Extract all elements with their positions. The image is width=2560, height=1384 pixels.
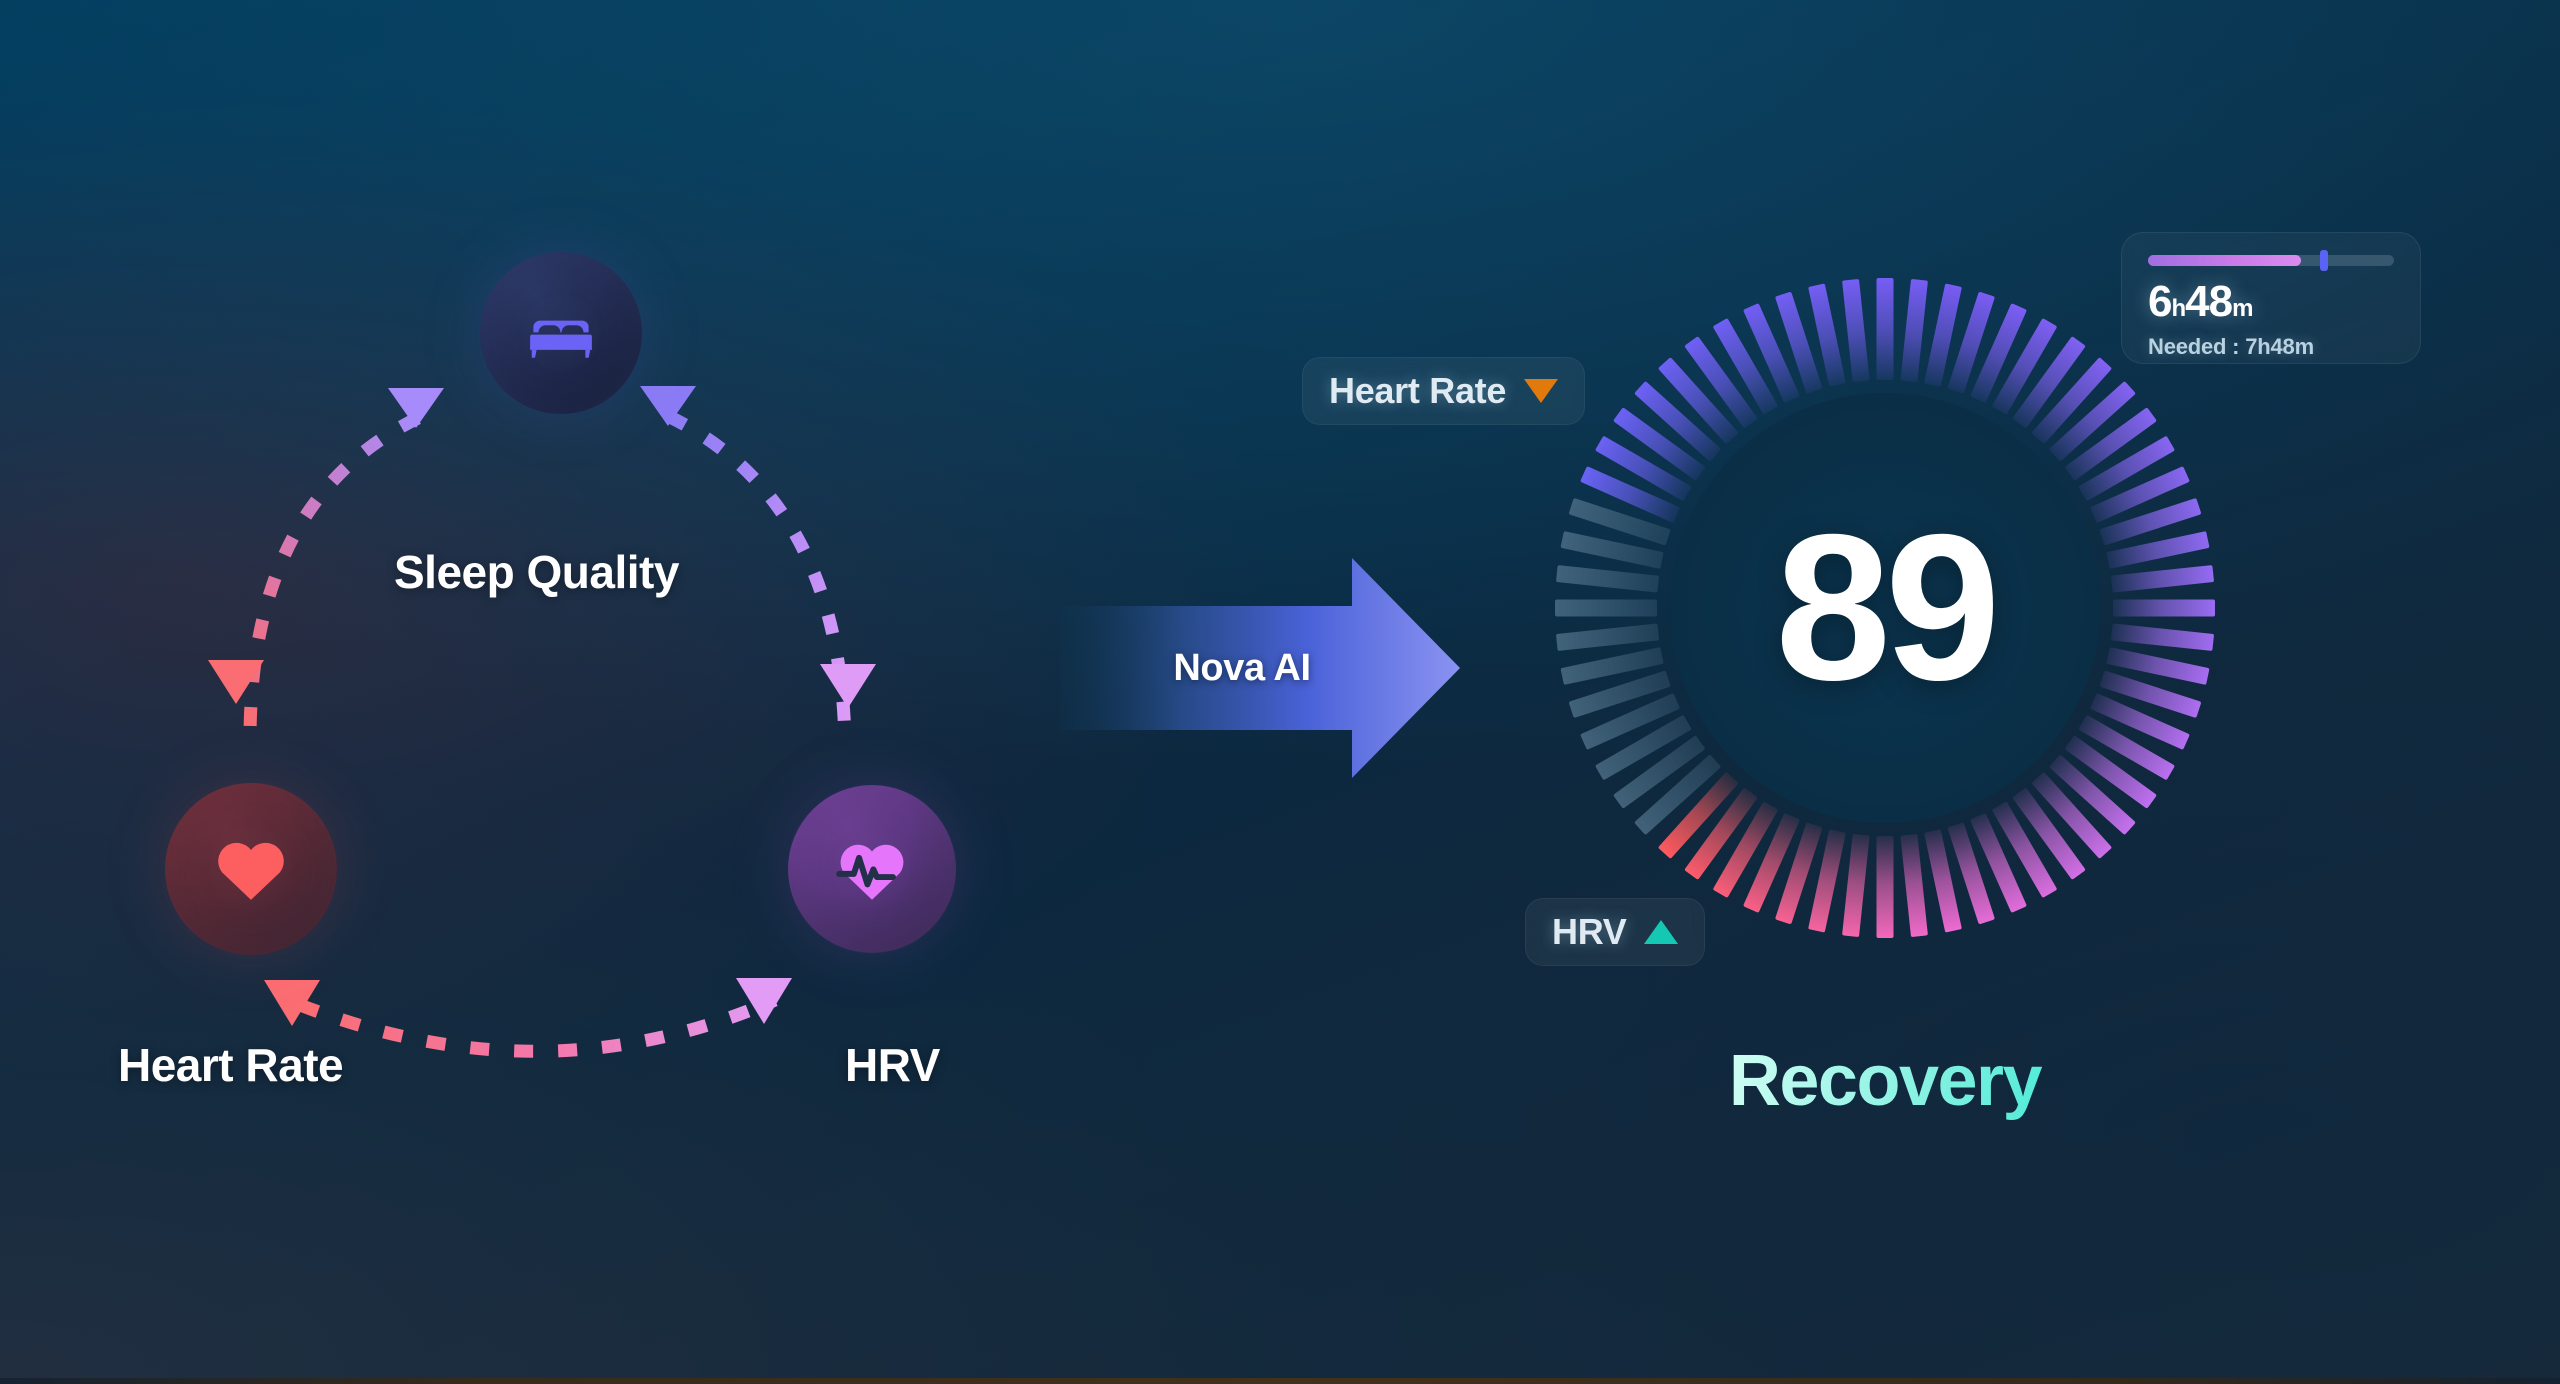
status-badge-label: HRV	[1552, 911, 1626, 953]
node-label-heart-rate: Heart Rate	[118, 1038, 343, 1092]
node-hrv[interactable]	[788, 785, 956, 953]
nova-ai-arrow[interactable]: Nova AI	[1060, 558, 1460, 778]
sleep-needed-text: Needed : 7h48m	[2148, 334, 2394, 360]
gauge-segment	[1842, 279, 1870, 382]
recovery-caption: Recovery	[1505, 1040, 2265, 1122]
node-heart-rate[interactable]	[165, 783, 337, 955]
gauge-value: 89	[1505, 504, 2265, 712]
trend-up-icon	[1644, 920, 1678, 944]
sleep-progress-fill	[2148, 255, 2301, 266]
sleep-hours-unit: h	[2171, 295, 2185, 322]
sleep-hours: 6	[2148, 277, 2171, 326]
status-badge-heart-rate[interactable]: Heart Rate	[1302, 357, 1585, 425]
arrow-head-to-hrv	[820, 664, 876, 708]
bed-icon	[522, 294, 600, 372]
nova-ai-label: Nova AI	[1060, 558, 1424, 778]
sleep-progress-track[interactable]	[2148, 255, 2394, 266]
arc-sleep-heartrate	[250, 418, 418, 740]
sleep-minutes: 48	[2185, 277, 2232, 326]
gauge-segment	[1900, 834, 1928, 937]
gauge-segment	[1877, 278, 1894, 380]
sleep-duration-card[interactable]: 6h48m Needed : 7h48m	[2121, 232, 2421, 364]
gauge-segment	[1900, 279, 1928, 382]
arc-heartrate-hrv	[300, 1000, 775, 1051]
sleep-duration: 6h48m	[2148, 280, 2394, 324]
node-sleep-quality[interactable]	[480, 252, 642, 414]
heart-pulse-icon	[830, 827, 914, 911]
arrow-head-to-sleep	[388, 388, 444, 428]
heart-icon	[208, 826, 294, 912]
node-label-hrv: HRV	[845, 1038, 940, 1092]
gauge-segment	[1842, 834, 1870, 937]
sleep-minutes-unit: m	[2232, 295, 2252, 322]
arc-sleep-hrv	[668, 416, 845, 742]
node-label-sleep-quality: Sleep Quality	[394, 545, 679, 599]
gauge-segment	[1877, 836, 1894, 938]
infographic-canvas: Sleep Quality Heart Rate HRV Nova AI 89 …	[0, 0, 2560, 1384]
trend-down-icon	[1524, 379, 1558, 403]
sleep-goal-marker	[2320, 250, 2328, 271]
status-badge-hrv[interactable]: HRV	[1525, 898, 1705, 966]
status-badge-label: Heart Rate	[1329, 370, 1506, 412]
